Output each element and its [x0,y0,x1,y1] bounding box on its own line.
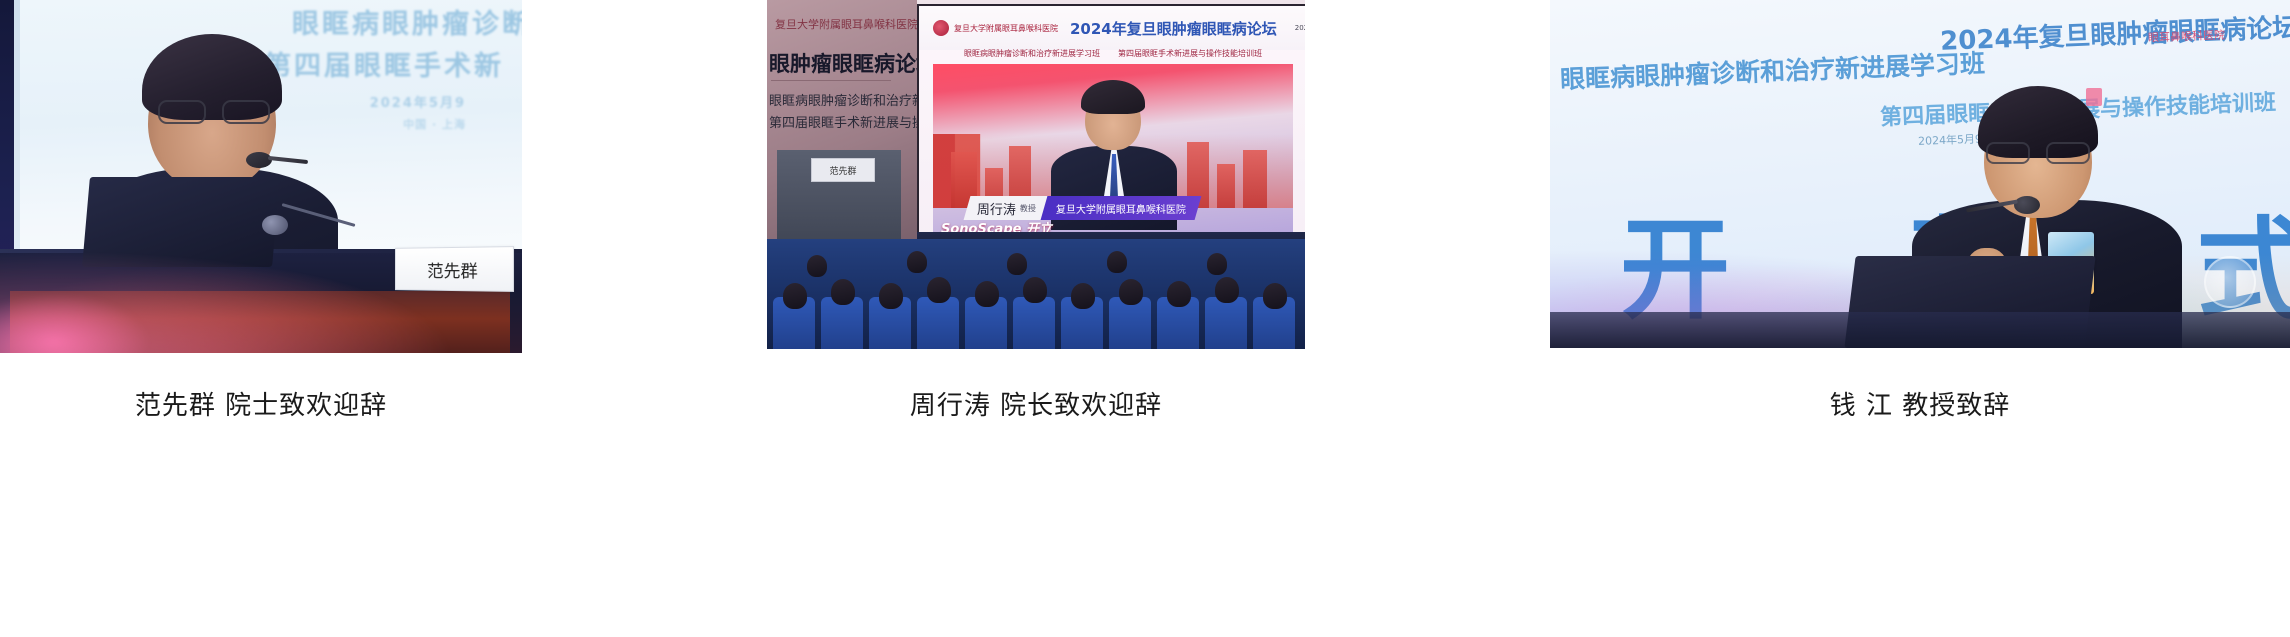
photo-1-mic-boom [268,156,308,164]
photo-2-attendee-head [1215,277,1239,303]
photo-collage: 眼眶病眼肿瘤诊断 第四届眼眶手术新 2024年5月9 中国 · 上海 [0,0,2290,637]
photo-2-screen-date: 2024年5月9-12日 中国 · 上海 [1295,23,1305,33]
hospital-logo-icon [933,20,949,36]
photo-1-screen-line-2: 第四届眼眶手术新 [264,44,504,83]
photo-2-screen-logo-text: 复旦大学附属眼耳鼻喉科医院 [954,23,1058,34]
photo-2-attendee-head [831,279,855,305]
photo-2-video-speaker-title: 教授 [1020,203,1036,214]
photo-2-video-lower-third: 周行涛 教授 复旦大学附属眼耳鼻喉科医院 [967,196,1198,220]
photo-2-screen-subtitles: 眼眶病眼肿瘤诊断和治疗新进展学习班 第四届眼眶手术新进展与操作技能培训班 [919,48,1305,59]
photo-1-bottom-glow [0,233,522,353]
photo-1[interactable]: 眼眶病眼肿瘤诊断 第四届眼眶手术新 2024年5月9 中国 · 上海 [0,0,522,353]
photo-2-podium-nameplate: 范先群 [811,158,875,182]
photo-2-attendee-head [1107,251,1127,273]
photo-2-attendee-head [1119,279,1143,305]
photo-2-attendee-head [807,255,827,277]
photo-2[interactable]: 复旦大学附属眼耳鼻喉科医院 眼肿瘤眼眶病论坛 眼眶病眼肿瘤诊断和治疗新进展学习班… [767,0,1305,349]
microphone-icon [1968,196,2040,214]
photo-2-projection-screen: 复旦大学附属眼耳鼻喉科医院 2024年复旦眼肿瘤眼眶病论坛 2024年5月9-1… [917,4,1305,256]
photo-2-attendee-head [975,281,999,307]
photo-2-attendee-head [783,283,807,309]
photo-2-seat [1205,297,1247,349]
microphone-icon [246,152,304,168]
photo-2-backdrop-shape [1217,164,1235,208]
photo-3-mic-body [1966,200,2018,213]
photo-2-attendee-head [1167,281,1191,307]
photo-2-video-speaker-name: 周行涛 [977,199,1016,218]
caption-panel-2: 周行涛 院长致欢迎辞 [767,385,1305,422]
photo-3-screen-seal-mark [2086,88,2102,106]
photo-2-screen-title: 2024年复旦眼肿瘤眼眶病论坛 [1070,18,1277,39]
photo-3-mic-head [2014,196,2040,214]
photo-2-banner-divider [771,80,891,81]
photo-2-banner-hospital: 复旦大学附属眼耳鼻喉科医院 [775,16,918,32]
photo-2-video-name-block: 周行涛 教授 [964,196,1050,220]
photo-1-desk-mic-head [262,215,288,235]
photo-2-attendee-head [927,277,951,303]
page-root: 眼眶病眼肿瘤诊断 第四届眼眶手术新 2024年5月9 中国 · 上海 [0,0,2290,637]
photo-1-mic-head [246,152,272,168]
photo-2-seat [1013,297,1055,349]
photo-2-attendee-head [1207,253,1227,275]
photo-2-attendee-head [1263,283,1287,309]
photo-2-attendee-head [1007,253,1027,275]
photo-2-backdrop-shape [1243,150,1267,208]
photo-2-audience [767,239,1305,349]
caption-panel-3: 钱 江 教授致辞 [1550,385,2290,422]
photo-1-screen-line-1: 眼眶病眼肿瘤诊断 [292,2,522,41]
photo-2-attendee-head [1071,283,1095,309]
photo-1-screen-line-4: 中国 · 上海 [403,116,466,132]
photo-2-screen-header: 复旦大学附属眼耳鼻喉科医院 2024年复旦眼肿瘤眼眶病论坛 2024年5月9-1… [919,6,1305,50]
collage-panel-1[interactable]: 眼眶病眼肿瘤诊断 第四届眼眶手术新 2024年5月9 中国 · 上海 [0,0,522,637]
photo-2-video-feed: 周行涛 教授 复旦大学附属眼耳鼻喉科医院 SonoScape 开立 [933,64,1293,234]
photo-2-screen-sub-1: 眼眶病眼肿瘤诊断和治疗新进展学习班 [964,48,1100,59]
photo-1-screen-line-3: 2024年5月9 [370,92,466,111]
photo-2-video-org-block: 复旦大学附属眼耳鼻喉科医院 [1041,196,1202,220]
photo-3-desk [1550,312,2290,348]
photo-3-screen-stamp: 眼耳鼻喉科医院 [2148,27,2226,46]
photo-2-video-speaker-hair [1081,80,1145,114]
caption-panel-1: 范先群 院士致欢迎辞 [0,385,522,422]
photo-2-attendee-head [879,283,903,309]
photo-2-screen-sub-2: 第四届眼眶手术新进展与操作技能培训班 [1118,48,1262,59]
photo-1-desk-mic-arm [282,203,356,227]
collage-panel-2[interactable]: 复旦大学附属眼耳鼻喉科医院 眼肿瘤眼眶病论坛 眼眶病眼肿瘤诊断和治疗新进展学习班… [767,0,1305,637]
collage-panel-3[interactable]: 2024年复旦眼肿瘤眼眶病论坛 眼眶病眼肿瘤诊断和治疗新进展学习班 第四届眼眶手… [1550,0,2290,637]
photo-2-banner-forum: 眼肿瘤眼眶病论坛 [769,48,937,78]
photo-2-video-speaker-org: 复旦大学附属眼耳鼻喉科医院 [1056,201,1186,216]
photo-3[interactable]: 2024年复旦眼肿瘤眼眶病论坛 眼眶病眼肿瘤诊断和治疗新进展学习班 第四届眼眶手… [1550,0,2290,348]
photo-3-floor-emblem [2204,256,2256,308]
photo-2-seat [917,297,959,349]
photo-2-attendee-head [907,251,927,273]
photo-2-attendee-head [1023,277,1047,303]
glasses-icon [156,100,272,122]
glasses-icon [1986,142,2090,162]
